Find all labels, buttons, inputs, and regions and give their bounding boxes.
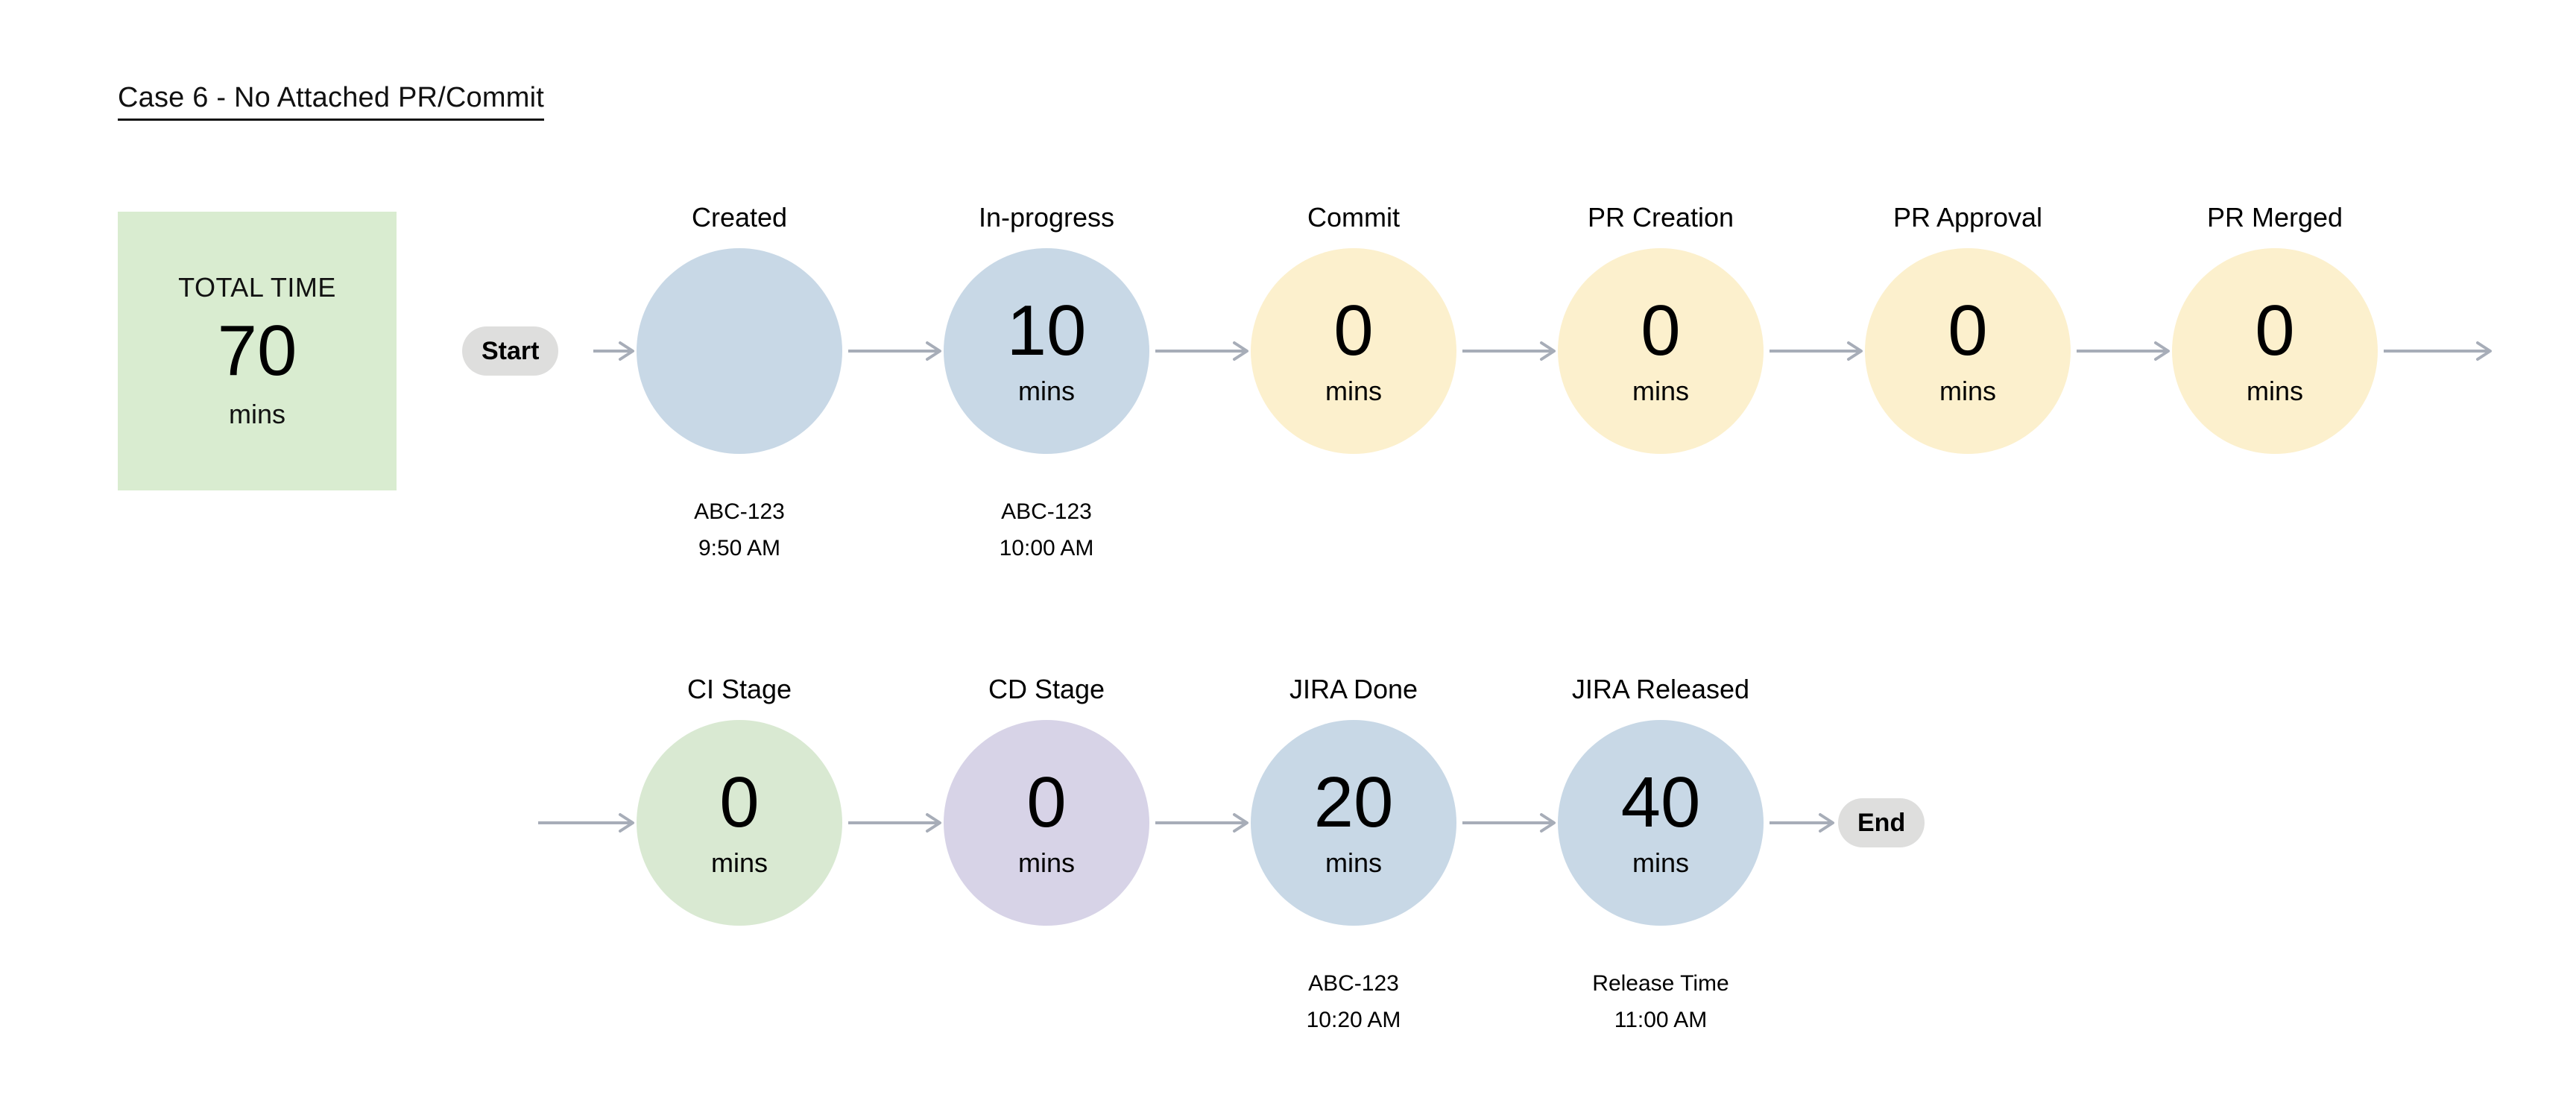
node-unit: mins: [1632, 847, 1689, 879]
node-value: 0: [1948, 295, 1987, 367]
node-title: In-progress: [924, 202, 1169, 233]
node-title: CD Stage: [924, 674, 1169, 705]
end-pill[interactable]: End: [1838, 798, 1925, 847]
total-time-card: TOTAL TIME 70 mins: [118, 212, 397, 490]
node-unit: mins: [1325, 376, 1382, 407]
node-ticket: ABC-123: [924, 494, 1169, 531]
node-subtext: Release Time11:00 AM: [1538, 966, 1784, 1038]
node-title: JIRA Done: [1231, 674, 1477, 705]
node-unit: mins: [1018, 376, 1075, 407]
node-value: 0: [1026, 767, 1066, 838]
node-unit: mins: [1939, 376, 1996, 407]
node-unit: mins: [1018, 847, 1075, 879]
connector-row1-2: [1462, 341, 1555, 361]
node-circle[interactable]: 0mins: [2172, 248, 2378, 454]
node-circle[interactable]: 0mins: [637, 720, 842, 926]
node-circle[interactable]: 0mins: [1865, 248, 2071, 454]
node-unit: mins: [1632, 376, 1689, 407]
node-circle[interactable]: 0mins: [1558, 248, 1764, 454]
connector-row1-5: [2384, 341, 2491, 361]
connector-row1-3: [1770, 341, 1862, 361]
node-circle[interactable]: 40mins: [1558, 720, 1764, 926]
node-subtext: ABC-12310:00 AM: [924, 494, 1169, 566]
start-pill[interactable]: Start: [462, 326, 558, 376]
connector-end: [1770, 813, 1834, 833]
connector-wrap-in: [538, 813, 634, 833]
node-circle[interactable]: 0mins: [1251, 248, 1456, 454]
connector-row1-0: [848, 341, 941, 361]
node-unit: mins: [711, 847, 768, 879]
node-timestamp: 11:00 AM: [1538, 1002, 1784, 1039]
node-value: 0: [1333, 295, 1373, 367]
node-value: 10: [1007, 295, 1087, 367]
node-value: 0: [719, 767, 759, 838]
node-subtext: ABC-12310:20 AM: [1231, 966, 1477, 1038]
node-title: PR Creation: [1538, 202, 1784, 233]
page-title: Case 6 - No Attached PR/Commit: [118, 82, 544, 121]
connector-row2-0: [848, 813, 941, 833]
node-subtext: ABC-1239:50 AM: [616, 494, 862, 566]
node-title: Created: [616, 202, 862, 233]
node-circle[interactable]: [637, 248, 842, 454]
node-ticket: Release Time: [1538, 966, 1784, 1002]
total-time-unit: mins: [229, 399, 285, 430]
node-timestamp: 9:50 AM: [616, 531, 862, 567]
node-title: JIRA Released: [1538, 674, 1784, 705]
node-title: PR Merged: [2152, 202, 2398, 233]
node-value: 20: [1314, 767, 1394, 838]
node-timestamp: 10:20 AM: [1231, 1002, 1477, 1039]
node-title: PR Approval: [1845, 202, 2091, 233]
node-timestamp: 10:00 AM: [924, 531, 1169, 567]
connector-row2-2: [1462, 813, 1555, 833]
node-circle[interactable]: 0mins: [944, 720, 1149, 926]
node-value: 40: [1621, 767, 1701, 838]
connector-row1-1: [1155, 341, 1248, 361]
connector-row1-4: [2077, 341, 2169, 361]
node-title: Commit: [1231, 202, 1477, 233]
node-unit: mins: [2247, 376, 2303, 407]
node-circle[interactable]: 20mins: [1251, 720, 1456, 926]
node-ticket: ABC-123: [616, 494, 862, 531]
flow-diagram-page: { "title": "Case 6 - No Attached PR/Comm…: [0, 0, 2576, 1115]
node-circle[interactable]: 10mins: [944, 248, 1149, 454]
total-time-label: TOTAL TIME: [178, 272, 336, 303]
node-value: 0: [1641, 295, 1680, 367]
node-ticket: ABC-123: [1231, 966, 1477, 1002]
node-title: CI Stage: [616, 674, 862, 705]
total-time-value: 70: [218, 314, 297, 389]
connector-row2-1: [1155, 813, 1248, 833]
node-value: 0: [2255, 295, 2294, 367]
node-unit: mins: [1325, 847, 1382, 879]
connector-start: [593, 341, 634, 361]
